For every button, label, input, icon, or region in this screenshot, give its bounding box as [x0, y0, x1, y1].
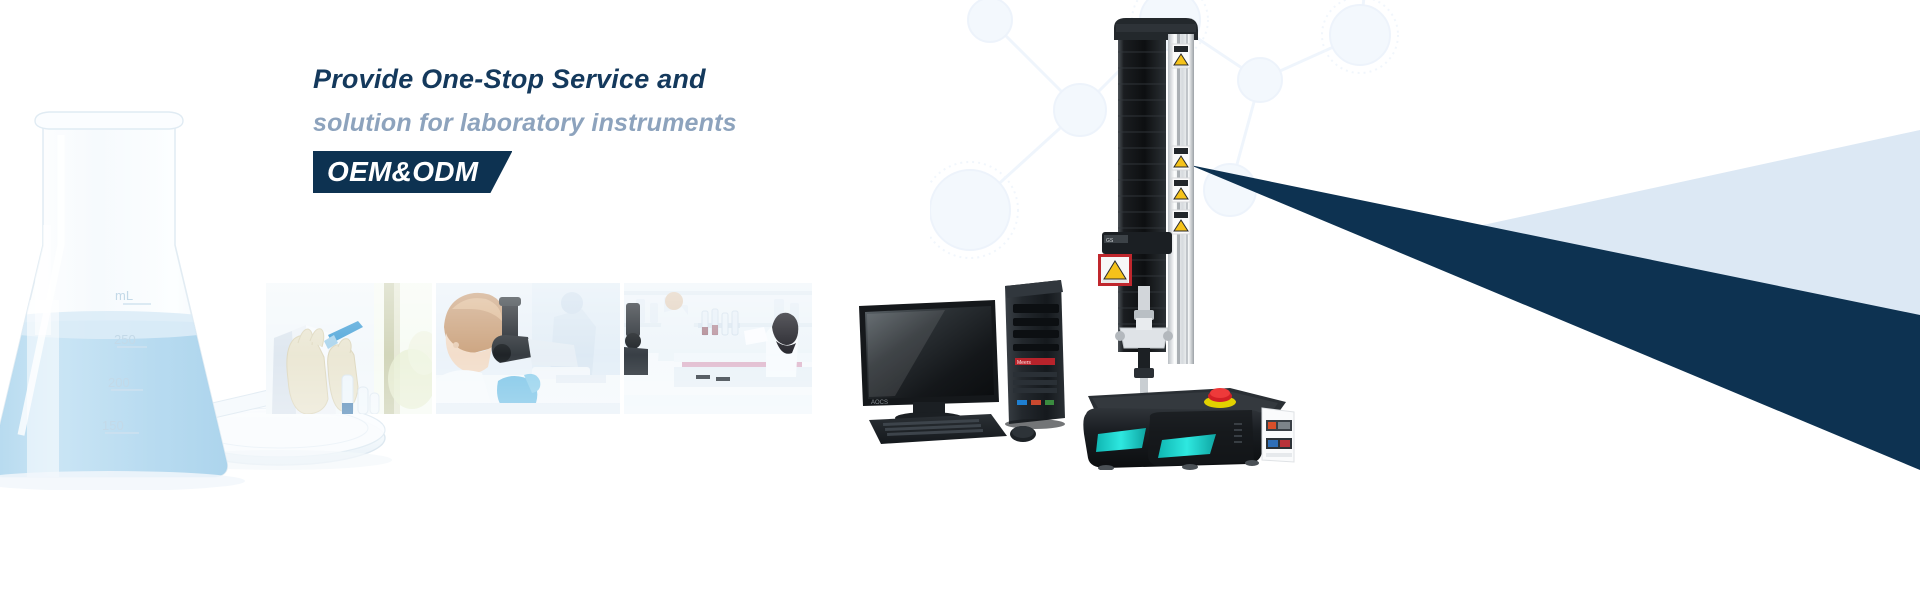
svg-text:AOCS: AOCS: [871, 400, 888, 406]
warning-triangle-icon: [1172, 178, 1190, 202]
desktop-computer-workstation: AOCS Meers: [855, 278, 1105, 448]
photo-scientist-microscope: [436, 283, 620, 414]
headline-block: Provide One-Stop Service and solution fo…: [313, 58, 873, 193]
headline-line-1: Provide One-Stop Service and: [313, 58, 873, 100]
svg-text:200: 200: [108, 375, 130, 390]
svg-text:GS: GS: [1106, 238, 1114, 244]
warning-triangle-icon: [1172, 146, 1190, 170]
warning-triangle-icon: [1172, 44, 1190, 68]
oem-odm-badge: OEM&ODM: [313, 151, 512, 193]
universal-tensile-testing-machine: GS: [1080, 10, 1300, 470]
photo-lab-technicians-bench: [624, 283, 812, 414]
lab-photo-strip: [266, 283, 812, 414]
svg-text:Meers: Meers: [1017, 360, 1031, 366]
headline-line-2: solution for laboratory instruments: [313, 100, 873, 146]
hero-banner: mL 250 200 150 Provide One-Stop Service …: [0, 0, 1920, 597]
badge-row: OEM&ODM: [313, 151, 873, 193]
svg-text:mL: mL: [115, 288, 133, 303]
photo-pipetting-gloved-hands: [266, 283, 432, 414]
svg-text:150: 150: [102, 418, 124, 433]
svg-text:250: 250: [114, 332, 136, 347]
erlenmeyer-flask: mL 250 200 150: [0, 95, 295, 490]
warning-triangle-icon: [1172, 210, 1190, 234]
oem-odm-badge-label: OEM&ODM: [327, 156, 478, 188]
